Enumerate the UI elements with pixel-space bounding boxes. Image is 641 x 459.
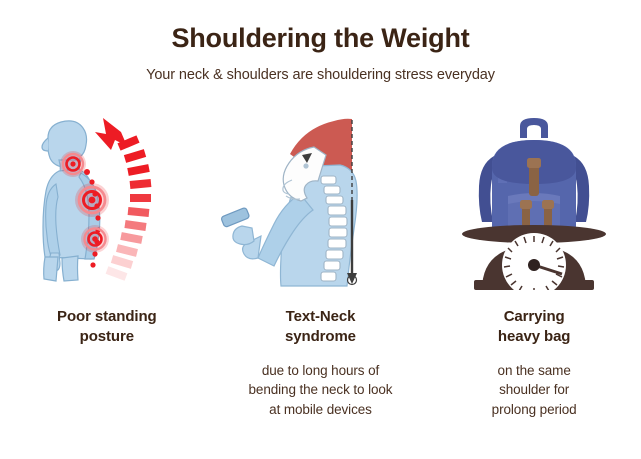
mobile-phone-icon: [221, 207, 250, 227]
pain-point-lower-back-icon: [81, 225, 109, 253]
weighing-scale-icon: [462, 225, 606, 290]
posture-figure-illustration: [0, 108, 214, 290]
column-carrying-heavy-bag: Carrying heavy bag on the same shoulder …: [427, 108, 641, 419]
caption-title: Carrying heavy bag: [439, 307, 629, 347]
text-neck-figure-svg: [220, 108, 420, 290]
cause-columns: Poor standing posture: [0, 108, 641, 419]
caption-text-neck-syndrome: Text-Neck syndrome due to long hours of …: [225, 307, 415, 419]
poster-header: Shouldering the Weight Your neck & shoul…: [0, 0, 641, 83]
text-neck-figure-illustration: [214, 108, 428, 290]
backpack-icon: [479, 118, 589, 236]
column-text-neck-syndrome: Text-Neck syndrome due to long hours of …: [214, 108, 428, 419]
pain-point-neck-icon: [60, 151, 86, 177]
caption-poor-standing-posture: Poor standing posture: [12, 307, 202, 347]
pain-point-shoulder-icon: [75, 183, 109, 217]
caption-title: Text-Neck syndrome: [225, 307, 415, 347]
page-title: Shouldering the Weight: [0, 0, 641, 54]
caption-carrying-heavy-bag: Carrying heavy bag on the same shoulder …: [439, 307, 629, 419]
backpack-on-scale-illustration: [427, 108, 641, 290]
caption-title: Poor standing posture: [12, 307, 202, 347]
caption-body: due to long hours of bending the neck to…: [225, 361, 415, 420]
page-subtitle: Your neck & shoulders are shouldering st…: [0, 54, 641, 83]
posture-figure-svg: [7, 108, 207, 290]
scale-dial-hub: [528, 259, 540, 271]
infographic-poster: Shouldering the Weight Your neck & shoul…: [0, 0, 641, 459]
caption-body: on the same shoulder for prolong period: [439, 361, 629, 420]
column-poor-standing-posture: Poor standing posture: [0, 108, 214, 347]
backpack-on-scale-svg: [434, 108, 634, 290]
